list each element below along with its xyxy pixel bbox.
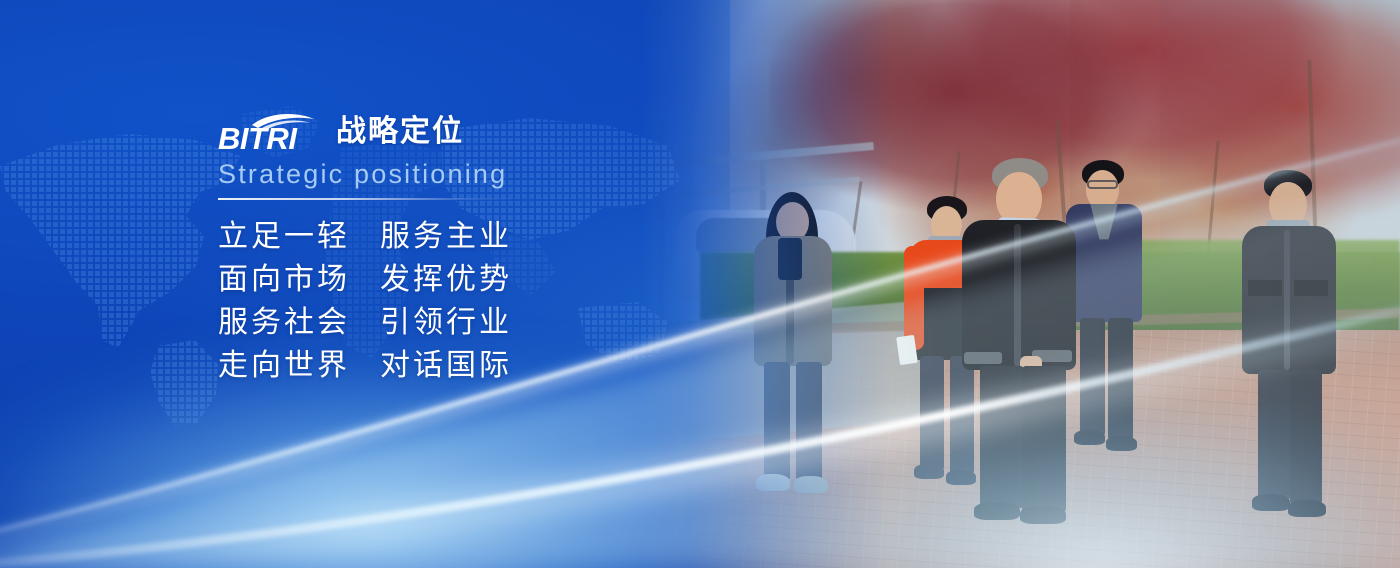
svg-text:BITRI: BITRI bbox=[218, 121, 298, 152]
inner-shirt bbox=[778, 238, 802, 280]
jacket-zipper bbox=[1284, 230, 1290, 370]
text-content-block: BITRI 战略定位 Strategic positioning 立足一轻 服务… bbox=[218, 112, 688, 394]
bottom-light-glow-right bbox=[560, 378, 1400, 568]
slogan-row: 立足一轻 服务主业 bbox=[218, 222, 688, 252]
slogan-row: 服务社会 引领行业 bbox=[218, 308, 688, 338]
slogan-right: 发挥优势 bbox=[380, 265, 512, 295]
title-divider bbox=[218, 198, 518, 200]
slogan-right: 服务主业 bbox=[380, 222, 512, 252]
slogan-list: 立足一轻 服务主业 面向市场 发挥优势 服务社会 引领行业 走向世界 对话国际 bbox=[218, 222, 688, 381]
slogan-row: 面向市场 发挥优势 bbox=[218, 265, 688, 295]
brand-row: BITRI 战略定位 bbox=[218, 112, 688, 148]
slogan-row: 走向世界 对话国际 bbox=[218, 351, 688, 381]
bitri-logo: BITRI bbox=[218, 112, 322, 148]
strategic-positioning-banner: BITRI 战略定位 Strategic positioning 立足一轻 服务… bbox=[0, 0, 1400, 568]
slogan-right: 对话国际 bbox=[380, 351, 512, 381]
brand-title-cn: 战略定位 bbox=[336, 117, 464, 147]
jacket-pocket bbox=[1294, 280, 1328, 296]
slogan-left: 面向市场 bbox=[218, 265, 350, 295]
jacket-pocket bbox=[1248, 280, 1282, 296]
glasses-icon bbox=[1087, 180, 1118, 189]
slogan-left: 服务社会 bbox=[218, 308, 350, 338]
slogan-left: 走向世界 bbox=[218, 351, 350, 381]
slogan-left: 立足一轻 bbox=[218, 222, 350, 252]
brand-subtitle-en: Strategic positioning bbox=[218, 161, 688, 188]
slogan-right: 引领行业 bbox=[380, 308, 512, 338]
